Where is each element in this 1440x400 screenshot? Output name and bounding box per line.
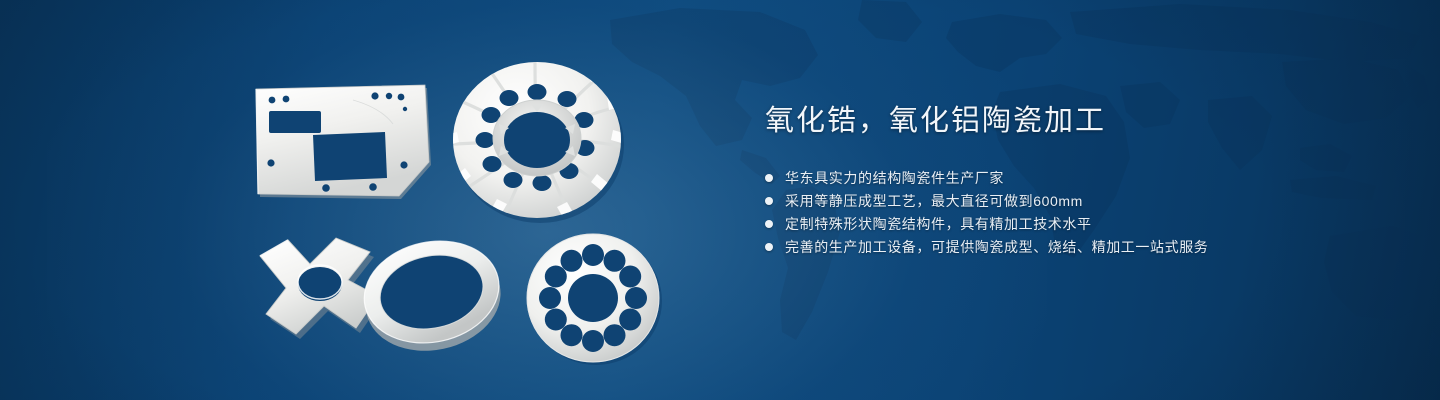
bullet-dot-icon [765,243,773,251]
list-item-label: 定制特殊形状陶瓷结构件，具有精加工技术水平 [785,214,1092,234]
bullet-dot-icon [765,174,773,182]
page-title: 氧化锆，氧化铝陶瓷加工 [765,104,1385,139]
list-item-label: 采用等静压成型工艺，最大直径可做到600mm [785,191,1083,211]
list-item: 定制特殊形状陶瓷结构件，具有精加工技术水平 [765,213,1385,235]
list-item: 采用等静压成型工艺，最大直径可做到600mm [765,190,1385,212]
list-item: 完善的生产加工设备，可提供陶瓷成型、烧结、精加工一站式服务 [765,236,1385,258]
list-item-label: 华东具实力的结构陶瓷件生产厂家 [785,168,1004,188]
hero-banner: 氧化锆，氧化铝陶瓷加工 华东具实力的结构陶瓷件生产厂家 采用等静压成型工艺，最大… [0,0,1440,400]
banner-copy: 氧化锆，氧化铝陶瓷加工 华东具实力的结构陶瓷件生产厂家 采用等静压成型工艺，最大… [765,104,1385,259]
bullet-dot-icon [765,220,773,228]
bullet-dot-icon [765,197,773,205]
list-item-label: 完善的生产加工设备，可提供陶瓷成型、烧结、精加工一站式服务 [785,237,1208,257]
list-item: 华东具实力的结构陶瓷件生产厂家 [765,167,1385,189]
feature-list: 华东具实力的结构陶瓷件生产厂家 采用等静压成型工艺，最大直径可做到600mm 定… [765,167,1385,258]
